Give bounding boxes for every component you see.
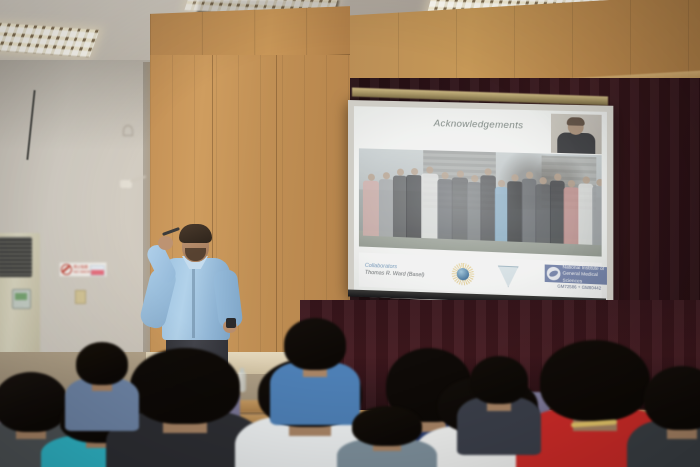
group-photo-person <box>406 174 422 238</box>
audience-plaid-left <box>352 406 422 467</box>
group-photo-person <box>592 186 602 245</box>
group-photo-person <box>421 173 438 239</box>
presenter-shirt-placket <box>192 266 195 338</box>
no-smoking-sign: 禁止吸烟 NO SMOKING <box>59 262 107 277</box>
nigms-text: National Institute of General Medical Sc… <box>563 264 607 286</box>
group-photo-person-head <box>426 166 433 173</box>
audience-hair <box>130 348 240 424</box>
group-photo-person-head <box>596 179 601 186</box>
group-photo-person <box>507 182 523 243</box>
audience-hair <box>76 342 128 385</box>
group-photo-person-head <box>411 167 418 174</box>
group-photo-person <box>437 179 452 239</box>
group-photo-person <box>467 182 481 240</box>
presentation-slide: Acknowledgements Collaborators Thomas R.… <box>354 106 607 302</box>
group-photo-person <box>550 181 565 244</box>
group-photo-person-head <box>367 174 374 181</box>
nigms-mark-icon <box>547 267 561 281</box>
wall-hook-icon <box>123 125 133 136</box>
air-conditioning-unit <box>0 233 40 368</box>
audience-back-blue <box>76 342 128 412</box>
collaborator-name: Thomas R. Ward (Basel) <box>365 270 425 279</box>
nigms-banner: National Institute of General Medical Sc… <box>545 264 607 285</box>
grant-numbers: GM72586 + GM80442 <box>557 284 601 291</box>
group-photo-person-head <box>525 171 532 178</box>
audience-hair <box>644 366 700 430</box>
audience-hair <box>284 318 346 370</box>
no-smoking-icon <box>61 264 72 275</box>
group-photo-person <box>535 184 551 243</box>
ac-display <box>15 293 27 300</box>
ac-control-panel <box>12 289 31 309</box>
nigms-logo-icon: National Institute of General Medical Sc… <box>545 264 607 294</box>
audience-hair <box>352 406 422 446</box>
collaborators-block: Collaborators Thomas R. Ward (Basel) <box>365 263 425 279</box>
presenter-right-hand <box>158 236 173 250</box>
group-photo-person <box>393 176 407 238</box>
sign-color-swatch <box>90 265 105 276</box>
group-photo-person-head <box>456 171 463 178</box>
wall-outlet <box>75 290 86 304</box>
group-photo-person-head <box>471 175 478 182</box>
audience-dark-center <box>130 348 240 467</box>
triangle-logo-icon <box>498 266 519 288</box>
group-photo-person <box>564 187 580 244</box>
presentation-clicker <box>226 318 236 328</box>
group-photo-person-head <box>484 168 491 175</box>
ac-grille <box>0 237 32 277</box>
projection-screen: Acknowledgements Collaborators Thomas R.… <box>348 100 613 309</box>
group-photo-person <box>578 184 593 245</box>
audience-back-right <box>470 356 528 434</box>
group-photo-person <box>452 178 468 240</box>
portrait-hair <box>567 117 585 126</box>
portrait-body <box>557 132 595 154</box>
audience-hair <box>540 340 650 421</box>
audience-hair <box>470 356 528 404</box>
portrait-photo <box>551 114 602 154</box>
group-photo-person <box>480 175 495 241</box>
presenter-pen <box>162 227 180 236</box>
group-photo-person <box>363 181 379 237</box>
group-photo <box>359 148 602 256</box>
group-photo-person-head <box>582 177 589 184</box>
audience-plaid-blue <box>284 318 346 402</box>
group-photo-person-head <box>396 169 403 176</box>
audience-far-right <box>644 366 700 467</box>
group-photo-person <box>522 178 537 243</box>
group-photo-person-head <box>554 174 561 181</box>
audience-hair <box>0 372 68 432</box>
nsf-core <box>457 268 469 281</box>
group-photo-person <box>379 179 394 237</box>
presenter-hair <box>179 224 212 243</box>
lecture-hall-photo: Acknowledgements Collaborators Thomas R.… <box>0 0 700 467</box>
nsf-logo-icon <box>452 262 475 285</box>
panel-seam <box>276 55 277 365</box>
